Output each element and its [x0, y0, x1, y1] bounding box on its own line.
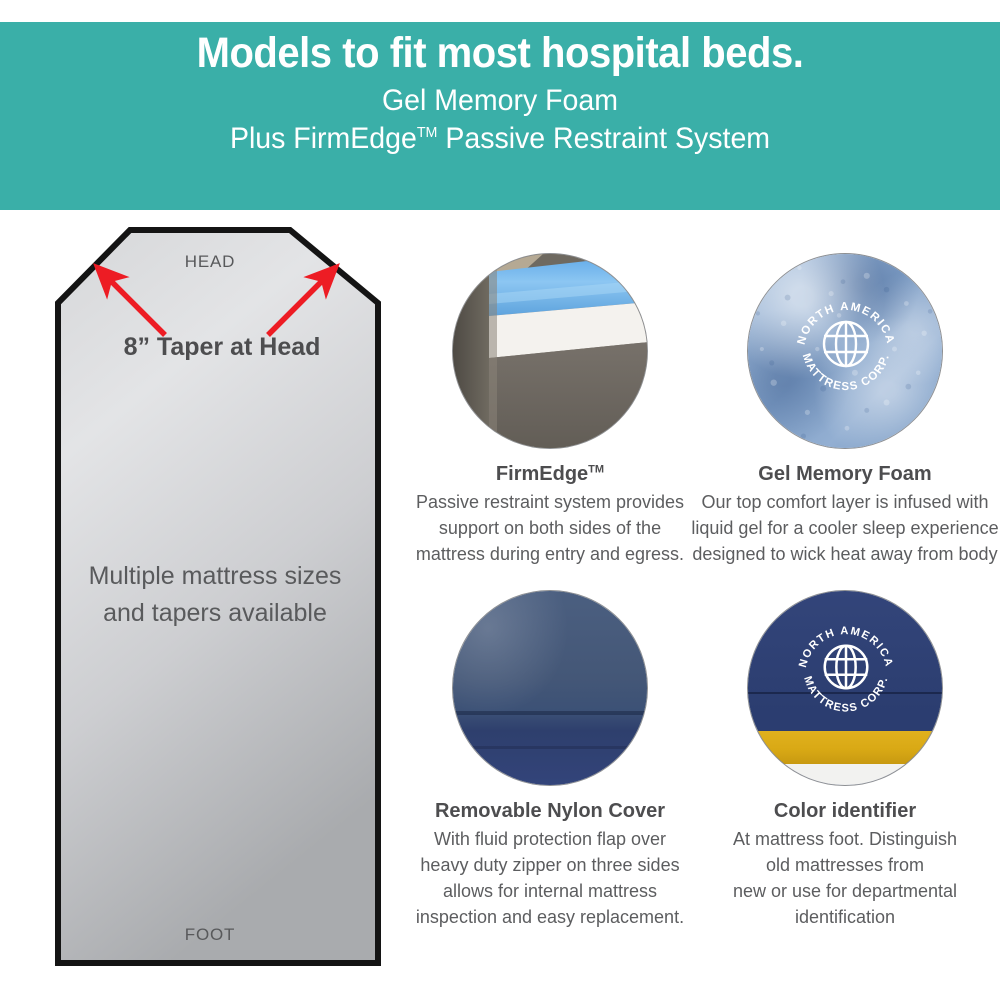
- firmedge-desc-line-2: support on both sides of the: [400, 515, 700, 541]
- color-identifier-description: At mattress foot. Distinguish old mattre…: [695, 826, 995, 930]
- firmedge-photo-art: [453, 254, 647, 448]
- color-identifier-image: NORTH AMERICA MATTRESS CORP.: [747, 590, 943, 786]
- gel-memory-foam-image: NORTH AMERICA MATTRESS CORP.: [747, 253, 943, 449]
- nylon-cover-photo-art: [453, 591, 647, 785]
- nylon-sheen: [452, 590, 569, 717]
- gel-speckle-texture: [748, 254, 942, 448]
- color-id-desc-line-1: At mattress foot. Distinguish: [695, 826, 995, 852]
- taper-label: 8” Taper at Head: [62, 333, 382, 362]
- feature-grid: FirmEdgeTM Passive restraint system prov…: [400, 240, 1000, 940]
- feature-removable-nylon-cover: Removable Nylon Cover With fluid protect…: [400, 590, 700, 930]
- color-id-white-strip: [748, 764, 942, 785]
- trademark-symbol: TM: [417, 124, 438, 141]
- nylon-cover-description: With fluid protection flap over heavy du…: [400, 826, 700, 930]
- head-label: HEAD: [40, 252, 380, 272]
- header-subtitle-line-1: Gel Memory Foam: [25, 82, 975, 120]
- gel-memory-foam-title: Gel Memory Foam: [695, 462, 995, 486]
- nylon-seam-2: [453, 746, 647, 749]
- firmedge-description: Passive restraint system provides suppor…: [400, 489, 700, 567]
- color-id-seam: [748, 692, 942, 694]
- mattress-sizes-line-2: and tapers available: [50, 595, 380, 632]
- nylon-desc-line-2: heavy duty zipper on three sides: [400, 852, 700, 878]
- firmedge-title-text: FirmEdge: [496, 463, 588, 485]
- header-banner: Models to fit most hospital beds. Gel Me…: [0, 22, 1000, 210]
- gel-title-text: Gel Memory Foam: [758, 463, 931, 485]
- color-identifier-title: Color identifier: [695, 799, 995, 823]
- infographic-page: Models to fit most hospital beds. Gel Me…: [0, 0, 1000, 1000]
- logo-arc-bottom: MATTRESS CORP.: [801, 675, 890, 715]
- nylon-title-text: Removable Nylon Cover: [435, 800, 665, 822]
- color-id-yellow-band: [748, 731, 942, 764]
- feature-gel-memory-foam: NORTH AMERICA MATTRESS CORP. Gel Memory …: [695, 253, 995, 567]
- header-subtitle-rest: Passive Restraint System: [437, 122, 770, 155]
- nylon-desc-line-1: With fluid protection flap over: [400, 826, 700, 852]
- gel-desc-line-1: Our top comfort layer is infused with: [690, 489, 1000, 515]
- firmedge-desc-line-3: mattress during entry and egress.: [400, 541, 700, 567]
- header-subtitle-line-2: Plus FirmEdgeTM Passive Restraint System: [25, 120, 975, 158]
- mattress-diagram: HEAD 8” Taper at Head Multiple mattress …: [40, 225, 400, 970]
- foot-label: FOOT: [40, 925, 380, 945]
- color-id-desc-line-2: old mattresses from: [695, 852, 995, 878]
- firmedge-title: FirmEdgeTM: [400, 462, 700, 486]
- globe-icon: [825, 646, 868, 689]
- nylon-seam-1: [453, 711, 647, 715]
- gel-foam-photo-art: NORTH AMERICA MATTRESS CORP.: [748, 254, 942, 448]
- gel-desc-line-3: designed to wick heat away from body: [690, 541, 1000, 567]
- nylon-cover-title: Removable Nylon Cover: [400, 799, 700, 823]
- mattress-sizes-label: Multiple mattress sizes and tapers avail…: [50, 558, 380, 632]
- nylon-cover-image: [452, 590, 648, 786]
- feature-firmedge: FirmEdgeTM Passive restraint system prov…: [400, 253, 700, 567]
- mattress-sizes-line-1: Multiple mattress sizes: [50, 558, 380, 595]
- header-subtitle-firmedge: Plus FirmEdge: [230, 122, 417, 155]
- gel-desc-line-2: liquid gel for a cooler sleep experience: [690, 515, 1000, 541]
- logo-arc-top: NORTH AMERICA: [797, 625, 895, 669]
- color-identifier-photo-art: NORTH AMERICA MATTRESS CORP.: [748, 591, 942, 785]
- page-title: Models to fit most hospital beds.: [35, 24, 965, 82]
- nylon-desc-line-4: inspection and easy replacement.: [400, 904, 700, 930]
- firmedge-image: [452, 253, 648, 449]
- firmedge-layers-svg: [453, 254, 648, 449]
- feature-color-identifier: NORTH AMERICA MATTRESS CORP. Color ident…: [695, 590, 995, 930]
- nylon-desc-line-3: allows for internal mattress: [400, 878, 700, 904]
- color-id-desc-line-3: new or use for departmental: [695, 878, 995, 904]
- north-america-mattress-logo: NORTH AMERICA MATTRESS CORP.: [788, 609, 904, 725]
- trademark-symbol: TM: [588, 463, 604, 475]
- color-id-desc-line-4: identification: [695, 904, 995, 930]
- firmedge-desc-line-1: Passive restraint system provides: [400, 489, 700, 515]
- gel-memory-foam-description: Our top comfort layer is infused with li…: [690, 489, 1000, 567]
- color-id-title-text: Color identifier: [774, 800, 916, 822]
